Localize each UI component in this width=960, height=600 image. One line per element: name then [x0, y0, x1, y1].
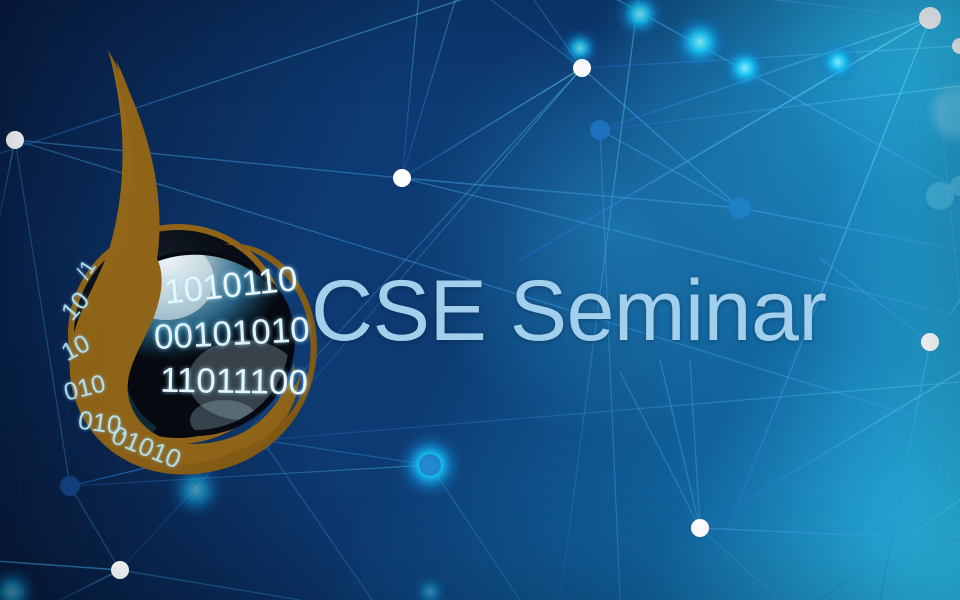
network-node	[419, 454, 441, 476]
network-node	[6, 131, 24, 149]
network-node	[111, 561, 129, 579]
network-node	[921, 333, 939, 351]
network-node	[393, 169, 411, 187]
banner-image: 1010110 00101010 11011100 /1 10 10 010 0…	[0, 0, 960, 600]
network-node	[60, 476, 80, 496]
network-node	[919, 7, 941, 29]
network-node	[691, 519, 709, 537]
page-title: CSE Seminar	[311, 268, 826, 354]
network-node	[590, 120, 610, 140]
cse-logo: 1010110 00101010 11011100 /1 10 10 010 0…	[48, 44, 328, 464]
network-node	[573, 59, 591, 77]
network-node	[952, 38, 960, 54]
cse-logo-graphic	[48, 44, 328, 464]
network-node	[729, 197, 751, 219]
